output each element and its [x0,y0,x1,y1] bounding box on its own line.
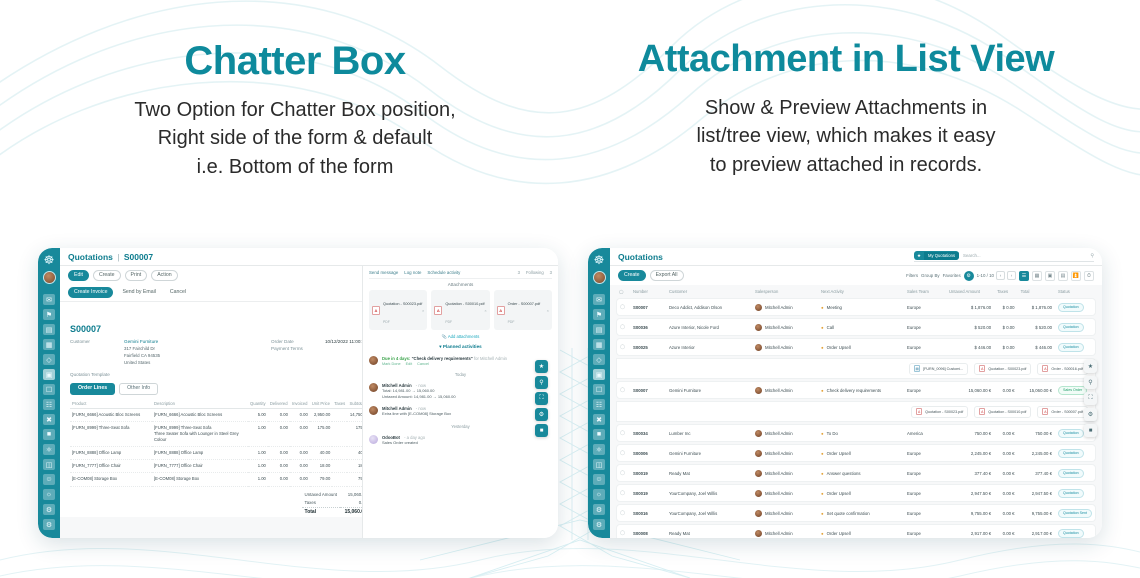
table-row[interactable]: ◯S00036Azure Interior, Nicole FordMitche… [616,318,1096,336]
upsell-icon: ● [821,451,824,456]
call-icon: ● [821,325,824,330]
author-name: OdooBot [382,435,400,440]
cell-taxes [332,408,347,421]
cell-next-activity: ●Answer questions [818,464,904,482]
avatar[interactable] [43,271,56,284]
day-separator-today: Today [369,372,552,377]
sidebar-item-manufacturing[interactable]: ☷ [593,399,605,410]
cell-salesperson: Mitchell Admin [752,318,818,336]
cell-total: $ 1,876.00 [1018,298,1055,316]
cell-salesperson: Mitchell Admin [752,338,818,356]
cell-total: 377.40 € [1018,464,1055,482]
message-author: OdooBot - a day ago [382,435,425,440]
sidebar-item-timeoff[interactable]: ☼ [43,489,55,500]
field-quotation-template[interactable]: Quotation Template [70,372,245,377]
cell-status: Quotation [1055,338,1096,356]
avatar [755,304,762,311]
group-by-button[interactable]: Group By [921,273,940,278]
sidebar-item-website[interactable]: ⚛ [593,444,605,455]
cell-number: S00008 [630,524,666,538]
table-row[interactable]: ◯S00019Ready MatMitchell Admin●Answer qu… [616,464,1096,482]
upsell-icon: ● [821,491,824,496]
mark-done-button[interactable]: Mark Done [382,362,401,366]
cell-untaxed: 9,755.00 € [946,504,994,522]
table-row[interactable]: ◯S00019YourCompany, Joel WillisMitchell … [616,484,1096,502]
cell-number: S00006 [630,444,666,462]
avatar [755,344,762,351]
cell-taxes: 0.00 € [994,381,1017,399]
attachment-row: ▤[FURN_0096] Customi...AQuotation - S000… [616,358,1096,379]
breadcrumb-model: Quotations [68,252,113,262]
attachment-meta: Order - S00007.pdf PDF [508,292,544,328]
cell-invoiced: 0.00 [290,408,310,421]
tab-order-lines[interactable]: Order Lines [70,383,115,395]
paperclip-icon: 📎 [442,334,447,339]
field-payment-terms[interactable]: Payment Terms [271,346,367,351]
sidebar-item-sales[interactable]: ⚑ [43,309,55,320]
cell-number: S00019 [630,464,666,482]
cell-total: 2,947.50 € [1018,484,1055,502]
floating-action-rail-left: ★ ⚲ ⛶ ⚙ ■ [535,360,548,437]
cell-product: [E-COM08] Storage Box [70,473,152,486]
screenshot-quotation-list: ☸ ✉ ⚑ ▤ ▦ ◇ ▣ ☐ ☷ ✖ ■ ⚛ ◫ ☺ ☼ ⚙ ⚙ Quotat… [588,248,1102,538]
close-icon[interactable]: × [422,308,424,313]
cell-next-activity: ●Order Upsell [818,338,904,356]
send-message-button[interactable]: Send message [369,270,398,275]
form-topbar: Quotations | S00007 [60,248,558,266]
col-number[interactable]: Number [630,287,666,296]
cell-quantity: 5.00 [248,408,268,421]
table-row[interactable]: [FURN_7777] Office Chair[FURN_7777] Offi… [70,460,374,473]
cell-taxes: 0.00 € [994,484,1017,502]
cell-next-activity: ●To Do [818,424,904,442]
edit-activity-button[interactable]: Edit [406,362,413,366]
table-row[interactable]: ◯S00025Azure InteriorMitchell Admin●Orde… [616,338,1096,356]
total-label: Untaxed Amount [302,491,340,499]
sidebar-item-purchase[interactable]: ☐ [593,384,605,395]
cell-sales-team: Europe [904,318,946,336]
sidebar-item-documents[interactable]: ◫ [593,459,605,470]
address-line: 317 Fairchild Dr [124,346,245,353]
attachment-cell: AQuotation - S00023.pdfAQuotation - S000… [616,401,1096,422]
list-controls: Create Export All Filters Group By Favor… [610,266,1102,285]
cell-unit-price: 175.00 [310,422,332,447]
field-label: Order Date [271,339,317,344]
sidebar-item-expenses[interactable]: ⚙ [43,504,55,515]
address-line: Fairfield CA 94535 [124,353,245,360]
attachment-type: PDF [445,320,452,324]
col-salesperson[interactable]: Salesperson [752,287,818,296]
kanban-view-icon[interactable]: ▦ [1032,271,1042,281]
filters-button[interactable]: Filters [906,273,918,278]
calendar-icon: ● [821,388,824,393]
search-input[interactable]: ★ My Quotations Search... ⚲ [914,251,1094,262]
check-icon: ● [821,511,824,516]
create-invoice-button[interactable]: Create Invoice [68,287,113,298]
attachment-chip[interactable]: ▤[FURN_0096] Customi... [909,363,968,375]
cell-number: S00007 [630,298,666,316]
create-button[interactable]: Create [618,270,646,281]
cell-untaxed: $ 446.00 [946,338,994,356]
cell-customer: YourCompany, Joel Willis [666,504,752,522]
sidebar-item-purchase[interactable]: ☐ [43,384,55,395]
cell-next-activity: ●Set quote confirmation [818,504,904,522]
col-delivered[interactable]: Delivered [268,399,290,409]
banner-column-left: Chatter Box Two Option for Chatter Box p… [20,40,570,181]
row-checkbox[interactable]: ◯ [616,524,630,538]
pdf-file-icon: A [372,306,380,315]
cell-quantity: 1.00 [248,447,268,460]
row-checkbox[interactable]: ◯ [616,424,630,442]
cell-number: S00016 [630,504,666,522]
divider [369,278,552,279]
create-button[interactable]: Create [93,270,121,281]
cell-taxes [332,473,347,486]
pager-range: 1-10 / 10 [977,273,994,278]
cell-taxes [332,460,347,473]
close-icon[interactable]: ■ [1084,424,1097,437]
avatar [755,450,762,457]
row-checkbox[interactable]: ◯ [616,484,630,502]
activity-item: Due in 4 days: "Check delivery requireme… [369,353,552,369]
cell-untaxed: $ 1,876.00 [946,298,994,316]
cell-taxes: 0.00 € [994,424,1017,442]
pager-next-button[interactable]: › [1007,271,1016,280]
col-sales-team[interactable]: Sales Team [904,287,946,296]
row-checkbox[interactable]: ◯ [616,464,630,482]
odoo-logo-icon: ☸ [42,253,56,267]
cell-sales-team: Europe [904,444,946,462]
list-pane: Quotations ★ My Quotations Search... ⚲ C… [610,248,1102,538]
sidebar-item-settings[interactable]: ⚙ [593,519,605,530]
cell-taxes: $ 0.00 [994,318,1017,336]
search-icon[interactable]: ⚲ [1084,376,1097,389]
pdf-file-icon: A [1042,408,1048,415]
sidebar-item-employees[interactable]: ■ [43,429,55,440]
cell-customer: Azure Interior [666,338,752,356]
sidebar-item-invoicing[interactable]: ▤ [593,324,605,335]
search-facet-my-quotations[interactable]: ★ My Quotations [914,251,959,260]
cell-unit-price: 79.00 [310,473,332,486]
record-title: S00007 [70,324,374,334]
attachment-chip[interactable]: AQuotation - S00023.pdf [974,363,1031,375]
tab-other-info[interactable]: Other Info [119,383,158,395]
graph-view-icon[interactable]: ⏫ [1071,271,1081,281]
cell-total: 15,060.00 € [1018,381,1055,399]
attachment-chip[interactable]: A Quotation - S00023.pdf PDF × [369,290,427,330]
sidebar-item-employees[interactable]: ■ [593,429,605,440]
cell-salesperson: Mitchell Admin [752,504,818,522]
sidebar-item-settings-apps[interactable]: ✖ [593,414,605,425]
col-customer[interactable]: Customer [666,287,752,296]
close-icon[interactable]: × [484,308,486,313]
list-view-icon[interactable]: ☰ [1019,271,1029,281]
avatar [755,387,762,394]
cell-taxes: $ 0.00 [994,298,1017,316]
table-row[interactable]: ◯S00008Ready MatMitchell Admin●Order Ups… [616,524,1096,538]
col-untaxed-amount[interactable]: Untaxed Amount [946,287,994,296]
cell-customer: Ready Mat [666,524,752,538]
row-checkbox[interactable]: ◯ [616,298,630,316]
activity-due: Due in 4 days: [382,356,410,361]
expand-icon[interactable]: ⛶ [535,392,548,405]
table-row[interactable]: ◯S00006Gemini FurnitureMitchell Admin●Or… [616,444,1096,462]
close-icon[interactable]: ■ [535,424,548,437]
cell-total: $ 520.00 [1018,318,1055,336]
avatar [369,383,378,392]
sidebar-item-settings[interactable]: ⚙ [43,519,55,530]
row-checkbox[interactable]: ◯ [616,444,630,462]
schedule-activity-button[interactable]: Schedule activity [427,270,460,275]
export-all-button[interactable]: Export All [650,270,684,281]
cell-customer: Gemini Furniture [666,381,752,399]
floating-action-rail-right: ★ ⚲ ⛶ ⚙ ■ [1084,360,1097,437]
select-all-checkbox[interactable]: ◯ [616,287,630,296]
attachment-chip[interactable]: AOrder - S00016.pdf [1037,363,1088,375]
cell-untaxed: 2,917.00 € [946,524,994,538]
pdf-file-icon: A [497,306,505,315]
cell-customer: Ready Mat [666,464,752,482]
page-title-attachment-list-view: Attachment in List View [570,40,1122,80]
sidebar-item-recruitment[interactable]: ☺ [43,474,55,485]
settings-icon[interactable]: ⚙ [535,408,548,421]
star-icon[interactable]: ★ [1084,360,1097,373]
banner-subcopy-right: Show & Preview Attachments in list/tree … [570,94,1122,179]
quotations-table: ◯ Number Customer Salesperson Next Activ… [610,285,1102,538]
followers-count[interactable]: 3 [518,270,520,275]
pdf-file-icon: A [434,306,442,315]
follower-badge[interactable]: 3 [550,270,552,275]
attachments-heading: Attachments [369,282,552,287]
sidebar-item-documents[interactable]: ◫ [43,459,55,470]
cell-status: Quotation [1055,524,1096,538]
attachment-chip[interactable]: A Quotation - S00010.pdf PDF × [431,290,489,330]
action-button[interactable]: Action [151,270,177,281]
search-icon[interactable]: ⚲ [1090,253,1094,259]
cell-number: S00036 [630,318,666,336]
cancel-button[interactable]: Cancel [165,288,191,297]
attachment-row: AQuotation - S00023.pdfAQuotation - S000… [616,401,1096,422]
cell-next-activity: ●Check delivery requirements [818,381,904,399]
row-checkbox[interactable]: ◯ [616,338,630,356]
status-badge: Quotation [1058,429,1084,438]
search-icon[interactable]: ⚲ [535,376,548,389]
close-icon[interactable]: × [547,308,549,313]
message-text: Total: 14,981.00 → 15,060.00 Untaxed Amo… [382,388,456,400]
form-body: S00007 Customer Gemini Furniture 317 Fai… [60,319,384,517]
favorites-button[interactable]: Favorites [943,273,961,278]
message-item: Mitchell Admin - now Extra line with [E-… [369,403,552,420]
sidebar-item-recruitment[interactable]: ☺ [593,474,605,485]
cell-sales-team: Europe [904,381,946,399]
pager-previous-button[interactable]: ‹ [996,271,1005,280]
edit-button[interactable]: Edit [68,270,89,281]
search-placeholder: Search... [963,253,981,258]
cell-sales-team: Europe [904,338,946,356]
attachment-chip[interactable]: A Order - S00007.pdf PDF × [494,290,552,330]
field-label: Quotation Template [70,372,110,377]
col-status[interactable]: Status [1055,287,1096,296]
sidebar-item-inbox[interactable]: ✉ [593,294,605,305]
col-total[interactable]: Total [1018,287,1055,296]
sidebar-item-contacts[interactable]: ▣ [43,369,55,380]
star-icon[interactable]: ★ [535,360,548,373]
cell-untaxed: $ 520.00 [946,318,994,336]
sidebar-item-sales[interactable]: ⚑ [593,309,605,320]
sidebar-item-timeoff[interactable]: ☼ [593,489,605,500]
attachment-chip[interactable]: AOrder - S00007.pdf [1037,406,1088,418]
cell-number: S00007 [630,381,666,399]
odoo-app-sidebar[interactable]: ☸ ✉ ⚑ ▤ ▦ ◇ ▣ ☐ ☷ ✖ ■ ⚛ ◫ ☺ ☼ ⚙ ⚙ [588,248,610,538]
table-row[interactable]: [FURN_8999] Three-Seat Sofa[FURN_8999] T… [70,422,374,447]
list-controls-right: Filters Group By Favorites ⚙ 1-10 / 10 ‹… [906,271,1094,281]
sidebar-item-settings-apps[interactable]: ✖ [43,414,55,425]
order-lines-body: [FURN_6666] Acoustic Bloc Screens[FURN_6… [70,408,374,486]
refresh-icon[interactable]: ⚙ [964,271,974,281]
pdf-file-icon: A [1042,365,1048,372]
sidebar-item-inventory[interactable]: ▦ [43,339,55,350]
activity-view-icon[interactable]: ⏱ [1084,271,1094,281]
field-order-date[interactable]: Order Date 10/12/2022 11:00:23 [271,339,367,344]
sidebar-item-crm[interactable]: ◇ [593,354,605,365]
cell-total: 2,917.00 € [1018,524,1055,538]
cell-taxes: 0.00 € [994,524,1017,538]
field-customer[interactable]: Customer Gemini Furniture [70,339,245,344]
cell-taxes: 0.00 € [994,504,1017,522]
cell-quantity: 1.00 [248,422,268,447]
field-value: Gemini Furniture [124,339,158,344]
cell-status: Quotation Sent [1055,504,1096,522]
planned-activities-heading: ▾ Planned activities [369,344,552,350]
pivot-view-icon[interactable]: ▤ [1058,271,1068,281]
field-column-right: Order Date 10/12/2022 11:00:23 Payment T… [271,339,367,377]
cell-total: $ 446.00 [1018,338,1055,356]
cell-status: Quotation [1055,444,1096,462]
message-line: Extra line with [E-COM08] Storage Box [382,411,451,417]
avatar[interactable] [593,271,606,284]
print-button[interactable]: Print [125,270,148,281]
send-by-email-button[interactable]: Send by Email [117,288,160,297]
log-note-button[interactable]: Log note [404,270,421,275]
cell-delivered: 0.00 [268,408,290,421]
attachment-chip[interactable]: AQuotation - S00010.pdf [974,406,1031,418]
banner-column-right: Attachment in List View Show & Preview A… [570,40,1122,179]
cell-total: 9,755.00 € [1018,504,1055,522]
day-separator-yesterday: Yesterday [369,424,552,429]
sidebar-item-website[interactable]: ⚛ [43,444,55,455]
add-attachments-label: Add attachments [448,334,479,339]
cell-taxes [332,422,347,447]
cell-customer: Azure Interior, Nicole Ford [666,318,752,336]
row-checkbox[interactable]: ◯ [616,381,630,399]
sidebar-item-inbox[interactable]: ✉ [43,294,55,305]
following-label[interactable]: Following [526,270,544,275]
status-badge: Sales Order [1058,386,1087,395]
breadcrumb[interactable]: Quotations | S00007 [68,252,153,262]
cell-total: 2,245.00 € [1018,444,1055,462]
sidebar-item-contacts[interactable]: ▣ [593,369,605,380]
sidebar-item-crm[interactable]: ◇ [43,354,55,365]
odoo-app-sidebar[interactable]: ☸ ✉ ⚑ ▤ ▦ ◇ ▣ ☐ ☷ ✖ ■ ⚛ ◫ ☺ ☼ ⚙ ⚙ [38,248,60,538]
attachment-chip-row: A Quotation - S00023.pdf PDF × A Quotati… [369,290,552,330]
message-line: Sales Order created [382,440,425,446]
expand-icon[interactable]: ⛶ [1084,392,1097,405]
attachment-name: Quotation - S00023.pdf [383,302,422,306]
cell-next-activity: ●Order Upsell [818,444,904,462]
cell-description: [FURN_8999] Three-Seat SofaThree Seater … [152,422,248,447]
cell-sales-team: Europe [904,504,946,522]
breadcrumb-record: S00007 [124,252,153,262]
meeting-icon: ● [821,305,824,310]
attachment-chip[interactable]: AQuotation - S00023.pdf [911,406,968,418]
settings-icon[interactable]: ⚙ [1084,408,1097,421]
table-row[interactable]: ◯S00016YourCompany, Joel WillisMitchell … [616,504,1096,522]
cell-customer: Gemini Furniture [666,444,752,462]
sidebar-item-invoicing[interactable]: ▤ [43,324,55,335]
message-time: - a day ago [404,435,425,440]
row-checkbox[interactable]: ◯ [616,318,630,336]
col-taxes[interactable]: Taxes [994,287,1017,296]
cell-salesperson: Mitchell Admin [752,444,818,462]
col-next-activity[interactable]: Next Activity [818,287,904,296]
col-quantity[interactable]: Quantity [248,399,268,409]
row-checkbox[interactable]: ◯ [616,504,630,522]
cell-salesperson: Mitchell Admin [752,298,818,316]
cell-delivered: 0.00 [268,447,290,460]
col-taxes[interactable]: Taxes [332,399,347,409]
avatar [755,430,762,437]
cell-number: S00025 [630,338,666,356]
table-row[interactable]: [FURN_6666] Acoustic Bloc Screens[FURN_6… [70,408,374,421]
table-row[interactable]: ◯S00007Gemini FurnitureMitchell Admin●Ch… [616,381,1096,399]
col-unit-price[interactable]: Unit Price [310,399,332,409]
screenshot-quotation-form: ☸ ✉ ⚑ ▤ ▦ ◇ ▣ ☐ ☷ ✖ ■ ⚛ ◫ ☺ ☼ ⚙ ⚙ Quotat… [38,248,558,538]
cell-total: 750.00 € [1018,424,1055,442]
order-totals: Untaxed Amount 15,060.00 € Taxes 0.00 € … [70,491,374,517]
cancel-activity-button[interactable]: Cancel [417,362,429,366]
page-title-chatter-box: Chatter Box [20,40,570,82]
avatar [369,356,378,365]
add-attachments-button[interactable]: 📎 Add attachments [369,334,552,340]
sidebar-item-expenses[interactable]: ⚙ [593,504,605,515]
table-row[interactable]: ◯S00007Deco Addict, Addison OlsonMitchel… [616,298,1096,316]
order-lines-table: Product Description Quantity Delivered I… [70,399,374,487]
sidebar-item-inventory[interactable]: ▦ [593,339,605,350]
message-body: Mitchell Admin - now Total: 14,981.00 → … [382,383,456,400]
cell-untaxed: 2,245.00 € [946,444,994,462]
col-product[interactable]: Product [70,399,152,409]
subcopy-line: i.e. Bottom of the form [20,153,570,181]
activity-line: Due in 4 days: "Check delivery requireme… [382,356,507,361]
cell-description: [FURN_7777] Office Chair [152,460,248,473]
col-description[interactable]: Description [152,399,248,409]
field-label: Payment Terms [271,346,317,351]
table-row[interactable]: [E-COM08] Storage Box[E-COM08] Storage B… [70,473,374,486]
cell-status: Quotation [1055,318,1096,336]
cell-untaxed: 750.00 € [946,424,994,442]
cell-quantity: 1.00 [248,473,268,486]
col-invoiced[interactable]: Invoiced [290,399,310,409]
question-icon: ● [821,471,824,476]
table-row[interactable]: ◯S00034Lumber IncMitchell Admin●To DoAme… [616,424,1096,442]
cell-delivered: 0.00 [268,460,290,473]
cell-description: [FURN_6666] Acoustic Bloc Screens [152,408,248,421]
avatar [369,406,378,415]
cell-customer: Deco Addict, Addison Olson [666,298,752,316]
table-row[interactable]: [FURN_8888] Office Lamp[FURN_8888] Offic… [70,447,374,460]
sidebar-item-manufacturing[interactable]: ☷ [43,399,55,410]
calendar-view-icon[interactable]: ▣ [1045,271,1055,281]
